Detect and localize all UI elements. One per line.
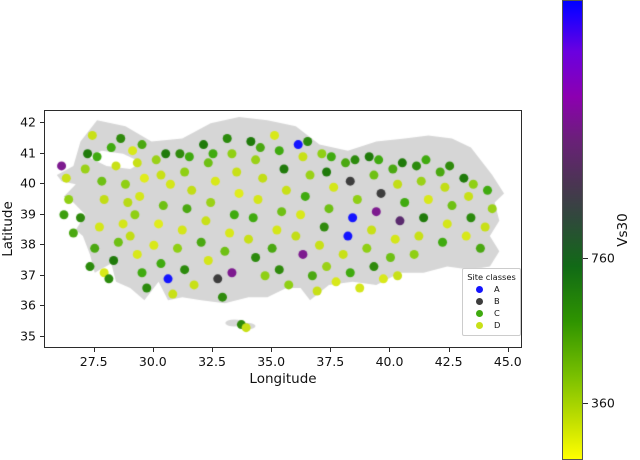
vs30-colorbar (562, 0, 583, 460)
y-tick-label: 41 (20, 145, 36, 160)
y-tick-label: 38 (20, 237, 36, 252)
legend-marker-icon (476, 298, 483, 305)
vs30-scatter-points (45, 111, 522, 348)
colorbar-tick (583, 258, 588, 259)
x-tick-label: 27.5 (80, 354, 108, 369)
x-axis-label: Longitude (249, 371, 316, 387)
y-tick (40, 336, 44, 337)
y-tick (40, 122, 44, 123)
legend-title: Site classes (467, 272, 516, 282)
x-tick (449, 348, 450, 352)
x-tick (212, 348, 213, 352)
colorbar-tick (583, 403, 588, 404)
y-tick-label: 37 (20, 267, 36, 282)
y-tick-label: 39 (20, 206, 36, 221)
y-tick-label: 36 (20, 298, 36, 313)
legend-item: B (467, 295, 516, 307)
legend-marker-icon (476, 286, 483, 293)
site-classes-legend: Site classes ABCD (462, 268, 521, 336)
x-tick-label: 32.5 (198, 354, 226, 369)
x-tick (94, 348, 95, 352)
legend-item-label: B (494, 296, 500, 306)
y-tick (40, 214, 44, 215)
legend-item: D (467, 319, 516, 331)
x-tick (271, 348, 272, 352)
legend-item-label: D (494, 320, 500, 330)
colorbar-label: Vs30 (615, 213, 631, 246)
figure-root: 27.530.032.535.037.540.042.545.042414039… (0, 0, 640, 460)
x-tick (508, 348, 509, 352)
x-tick (153, 348, 154, 352)
scatter-plot-axes (44, 110, 522, 348)
x-tick-label: 35.0 (257, 354, 285, 369)
x-tick (389, 348, 390, 352)
colorbar-tick-label: 360 (591, 396, 615, 411)
x-tick-label: 30.0 (139, 354, 167, 369)
y-tick (40, 244, 44, 245)
x-tick (330, 348, 331, 352)
legend-item: A (467, 283, 516, 295)
y-tick-label: 40 (20, 176, 36, 191)
y-tick-label: 35 (20, 328, 36, 343)
y-tick (40, 275, 44, 276)
x-tick-label: 40.0 (376, 354, 404, 369)
x-tick-label: 42.5 (435, 354, 463, 369)
y-tick (40, 153, 44, 154)
y-tick (40, 183, 44, 184)
colorbar-tick-label: 760 (591, 251, 615, 266)
y-tick-label: 42 (20, 115, 36, 130)
legend-entries: ABCD (467, 283, 516, 331)
legend-item: C (467, 307, 516, 319)
legend-item-label: A (494, 284, 500, 294)
x-tick-label: 37.5 (316, 354, 344, 369)
x-tick-label: 45.0 (494, 354, 522, 369)
legend-marker-icon (476, 322, 483, 329)
legend-marker-icon (476, 310, 483, 317)
y-axis-label: Latitude (0, 201, 16, 257)
legend-item-label: C (494, 308, 500, 318)
y-tick (40, 305, 44, 306)
